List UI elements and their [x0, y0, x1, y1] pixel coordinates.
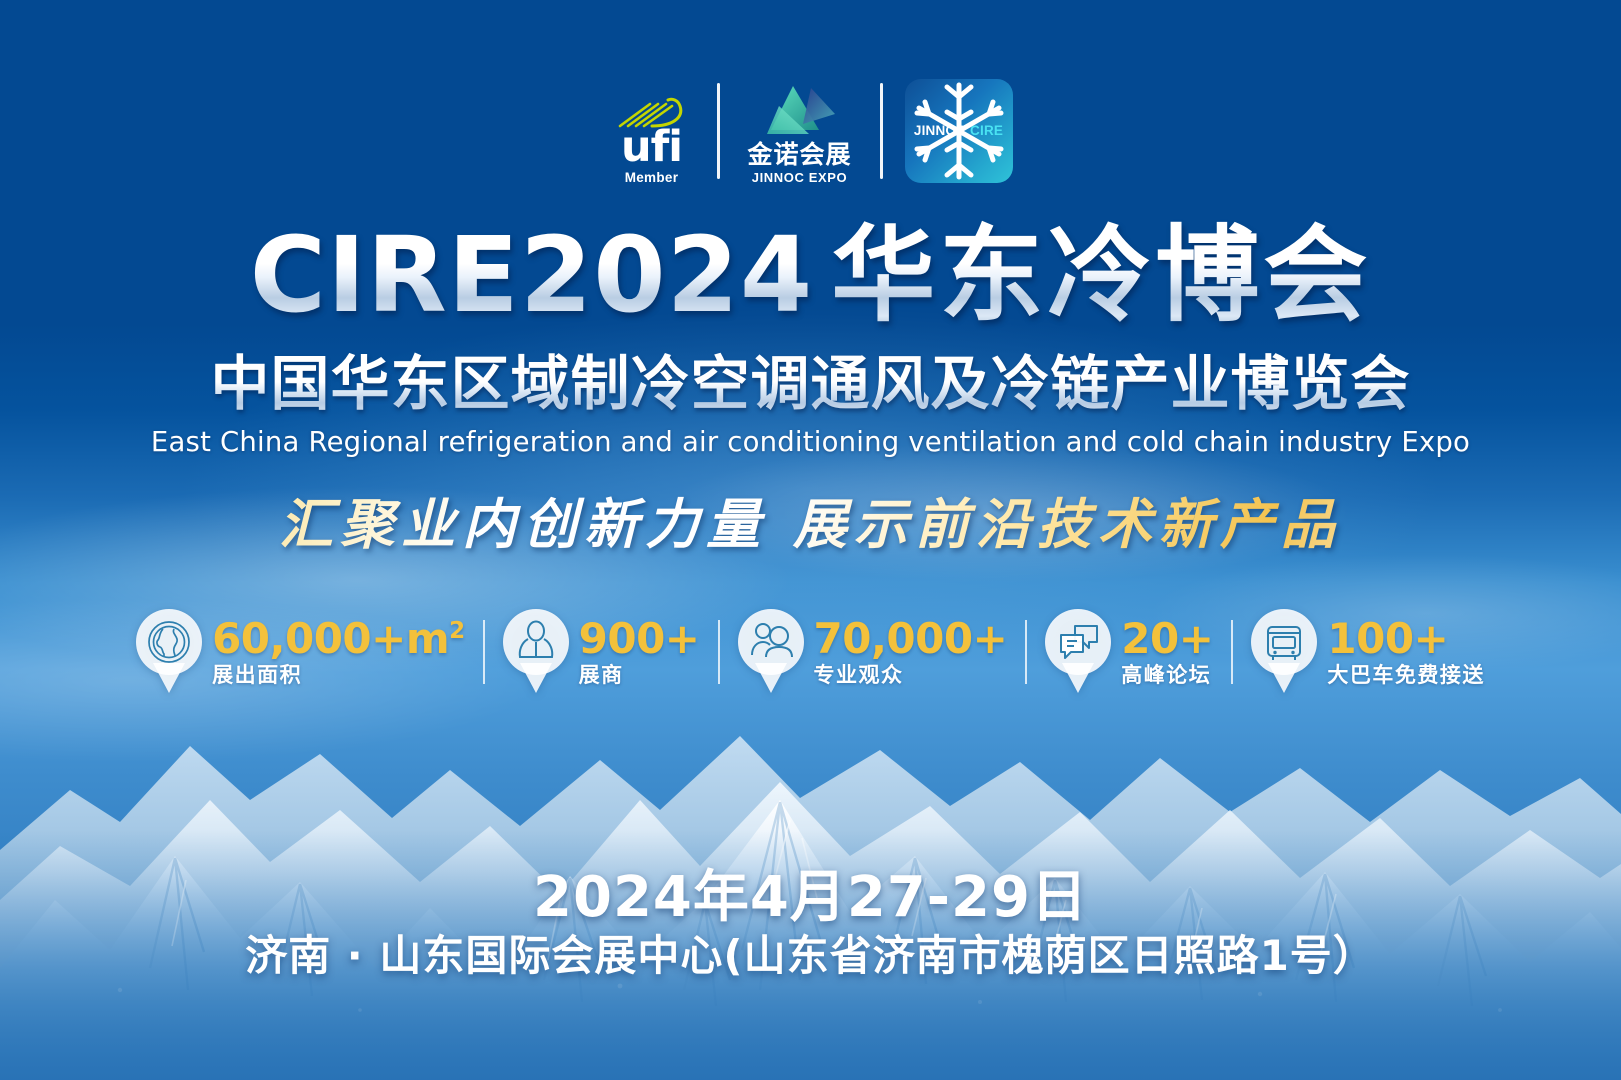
stat-item: 20+ 高峰论坛 — [1027, 609, 1231, 695]
slogan-text: 汇聚业内创新力量 展示前沿技术新产品 — [0, 480, 1621, 559]
event-venue: 济南 · 山东国际会展中心(山东省济南市槐荫区日照路1号） — [0, 922, 1621, 983]
ufi-member-caption: Member — [625, 170, 679, 185]
title-main-cn: 华东冷博会 — [831, 214, 1371, 336]
jinnoc-cn-name: 金诺会展 — [747, 142, 851, 167]
jinnoc-cire-logo: JINNOC CIRE — [905, 75, 1013, 187]
visitors-pin-icon — [738, 609, 804, 695]
poster-root: ufi Member — [0, 0, 1621, 1080]
jinnoc-expo-logo: 金诺会展 JINNOC EXPO — [742, 75, 858, 187]
stat-item: 60,000+m2 展出面积 — [118, 609, 483, 695]
stat-value: 100+ — [1327, 618, 1485, 660]
page-title: CIRE2024华东冷博会 — [0, 218, 1621, 332]
jinnoc-en-name: JINNOC EXPO — [752, 170, 847, 185]
forum-pin-icon — [1045, 609, 1111, 695]
cire-label-part-a: JINNOC — [914, 123, 970, 138]
stat-value: 60,000+m2 — [212, 618, 465, 660]
event-date: 2024年4月27-29日 — [0, 852, 1621, 933]
exhibitor-pin-icon — [503, 609, 569, 695]
subtitle-chinese: 中国华东区域制冷空调通风及冷链产业博览会 — [0, 352, 1621, 417]
stat-item: 900+ 展商 — [485, 609, 718, 695]
ufi-member-logo: ufi Member — [609, 75, 695, 187]
cire-label-part-b: CIRE — [970, 123, 1003, 138]
globe-pin-icon — [136, 609, 202, 695]
stat-label: 大巴车免费接送 — [1327, 665, 1485, 686]
logo-row: ufi Member — [0, 72, 1621, 190]
jinnoc-cire-label: JINNOC CIRE — [905, 123, 1013, 138]
title-main-en: CIRE2024 — [250, 214, 814, 336]
jinnoc-triangle-mark-icon — [763, 84, 837, 138]
ufi-wordmark: ufi — [621, 128, 682, 167]
subtitle-english: East China Regional refrigeration and ai… — [0, 426, 1621, 458]
stat-label: 高峰论坛 — [1121, 665, 1213, 686]
stat-item: 100+ 大巴车免费接送 — [1233, 609, 1503, 695]
logo-divider-1 — [717, 83, 720, 179]
logo-divider-2 — [880, 83, 883, 179]
stat-label: 展出面积 — [212, 665, 465, 686]
stat-item: 70,000+ 专业观众 — [720, 609, 1026, 695]
stat-label: 展商 — [579, 665, 700, 686]
stat-value: 70,000+ — [814, 618, 1008, 660]
stat-label: 专业观众 — [814, 665, 1008, 686]
stat-value: 20+ — [1121, 618, 1213, 660]
bus-pin-icon — [1251, 609, 1317, 695]
stats-row: 60,000+m2 展出面积 900+ 展商 — [0, 604, 1621, 700]
stat-value: 900+ — [579, 618, 700, 660]
